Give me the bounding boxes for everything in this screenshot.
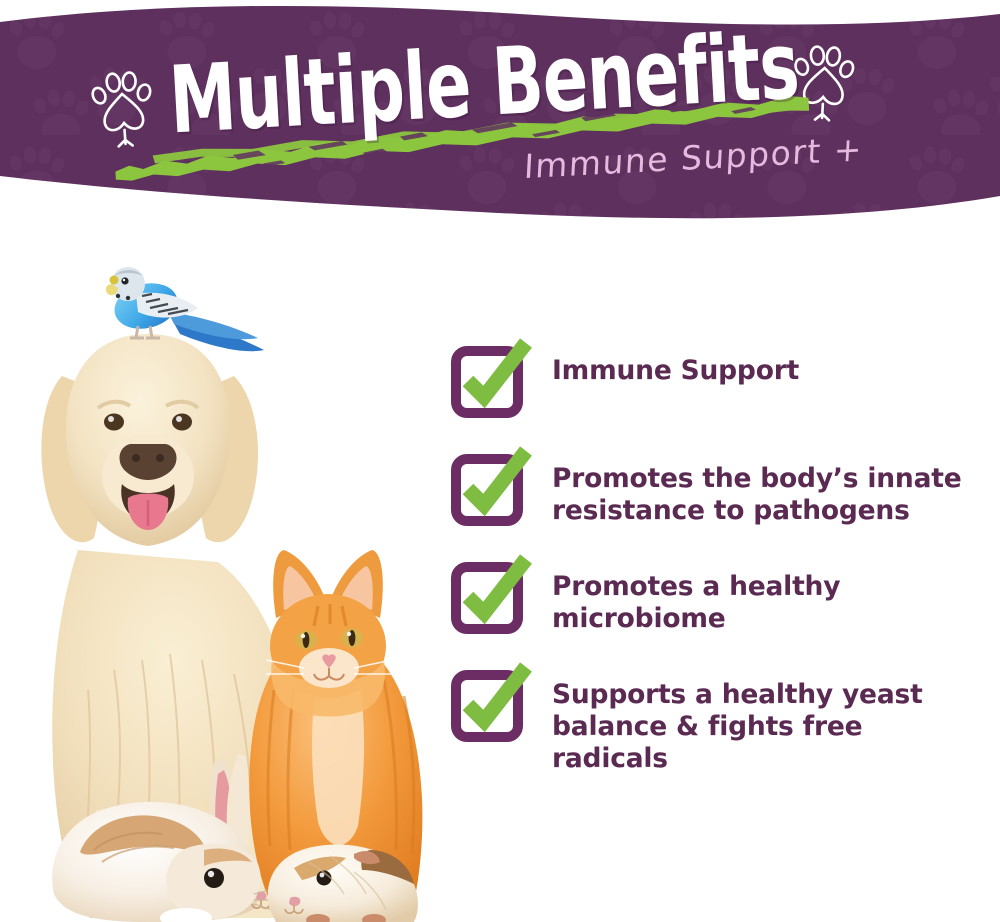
- banner-shape: [0, 0, 1000, 250]
- checkbox-checked-icon: [452, 557, 530, 635]
- content-area: Immune Support Promotes the body’s innat…: [0, 250, 1000, 922]
- pets-photo-collage: [18, 250, 448, 922]
- header-banner: Multiple Benefits Immune Support +: [0, 0, 1000, 250]
- benefit-label: Promotes a healthy microbiome: [552, 561, 972, 635]
- checkbox-checked-icon: [452, 341, 530, 419]
- pets-illustration: [18, 250, 448, 922]
- benefits-list: Immune Support Promotes the body’s innat…: [452, 345, 982, 774]
- checkbox-checked-icon: [452, 665, 530, 743]
- benefit-item-healthy-microbiome: Promotes a healthy microbiome: [452, 561, 982, 635]
- benefit-label: Promotes the body’s innate resistance to…: [552, 453, 972, 527]
- checkbox-checked-icon: [452, 449, 530, 527]
- benefit-item-innate-resistance: Promotes the body’s innate resistance to…: [452, 453, 982, 527]
- benefit-item-immune-support: Immune Support: [452, 345, 982, 419]
- benefit-label: Supports a healthy yeast balance & fight…: [552, 669, 972, 774]
- benefit-item-yeast-balance: Supports a healthy yeast balance & fight…: [452, 669, 982, 774]
- infographic-page: Multiple Benefits Immune Support +: [0, 0, 1000, 922]
- benefit-label: Immune Support: [552, 345, 799, 387]
